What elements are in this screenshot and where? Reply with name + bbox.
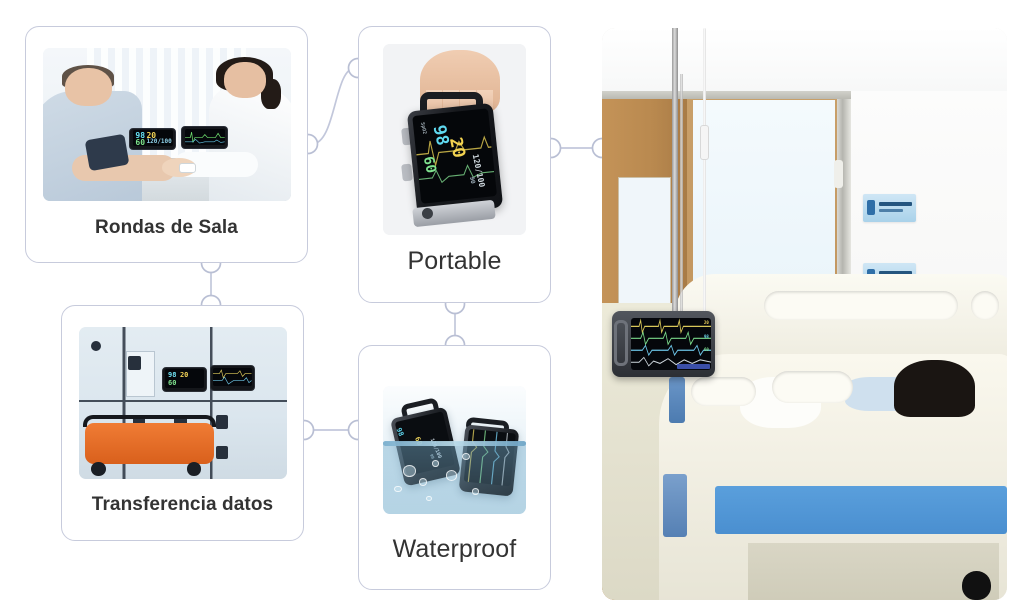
clinician-taking-patient-vitals-photo: 98 20 60 120/100 (43, 48, 291, 201)
hospital-room-bedside-monitor-photo: 20 98 60 (602, 28, 1007, 600)
feature-diagram: 98 20 60 120/100 Rondas de Sala (0, 0, 1024, 616)
feature-card-label-portable: Portable (359, 248, 550, 276)
feature-card-data-transfer[interactable]: 98 20 60 (61, 305, 304, 541)
ambulance-monitor-right (210, 365, 256, 391)
monitors-submerged-in-water-photo: 98 60 120/100 90 (383, 386, 526, 514)
connector-ward-to-portable (312, 68, 355, 144)
feature-card-label-waterproof: Waterproof (359, 536, 550, 564)
ambulance-monitor-left: 98 20 60 (162, 367, 208, 393)
feature-card-label-data-transfer: Transferencia datos (62, 495, 303, 516)
desk-monitor-left: 98 20 60 120/100 (129, 128, 176, 151)
feature-card-waterproof[interactable]: 98 60 120/100 90 (358, 345, 551, 590)
feature-card-portable[interactable]: 98 20 60 120/100 90 SpO2 Portable (358, 26, 551, 303)
handheld-monitor-in-hand-photo: 98 20 60 120/100 90 SpO2 (383, 44, 526, 235)
bedside-patient-monitor: 20 98 60 (612, 311, 715, 377)
desk-monitor-right (181, 126, 228, 149)
feature-card-ward-rounds[interactable]: 98 20 60 120/100 Rondas de Sala (25, 26, 308, 263)
ambulance-interior-with-monitors-photo: 98 20 60 (79, 327, 287, 479)
feature-card-label-ward-rounds: Rondas de Sala (26, 218, 307, 239)
wall-sign-1 (863, 194, 916, 223)
